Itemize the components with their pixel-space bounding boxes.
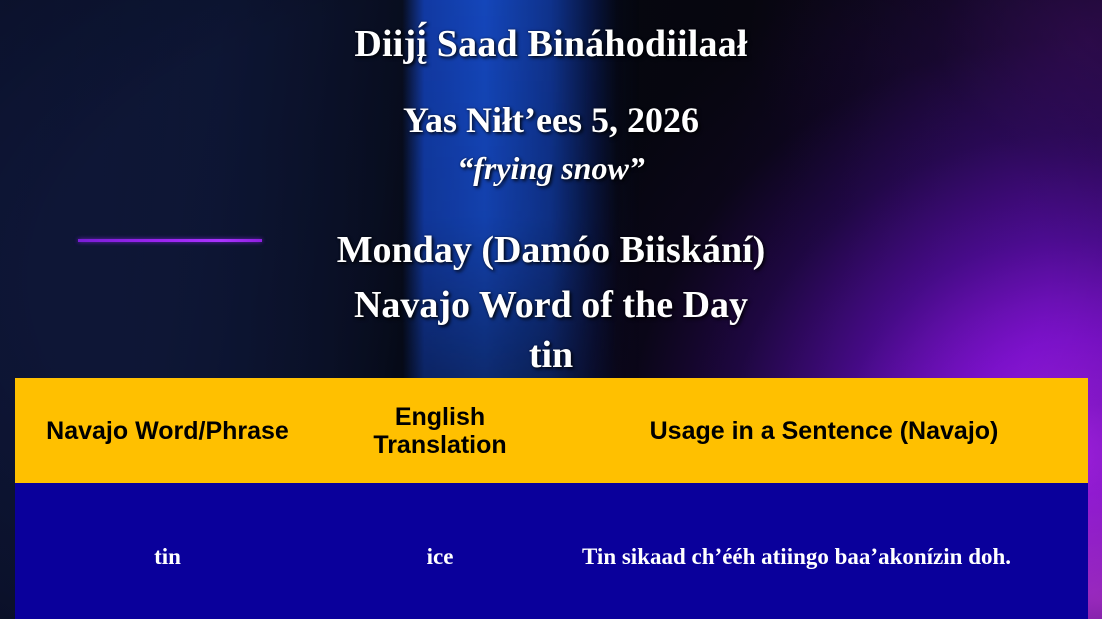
cell-english-translation: ice	[320, 483, 560, 619]
table-row: tin ice Tin sikaad ch’ééh atiingo baa’ak…	[15, 483, 1088, 619]
weekday-line: Monday (Damóo Biiskání)	[0, 228, 1102, 272]
table-header-row: Navajo Word/Phrase English Translation U…	[15, 378, 1088, 483]
navajo-word-of-the-day-slide: Diijį́ Saad Bináhodiilaał Yas Niłt’ees 5…	[0, 0, 1102, 619]
slide-title: Diijį́ Saad Bináhodiilaał	[0, 22, 1102, 66]
column-header-english-translation: English Translation	[320, 378, 560, 483]
word-of-the-day-label: Navajo Word of the Day	[0, 283, 1102, 327]
navajo-date-gloss: “frying snow”	[0, 150, 1102, 187]
accent-rule-divider	[78, 239, 262, 242]
cell-navajo-word: tin	[15, 483, 320, 619]
column-header-usage-sentence: Usage in a Sentence (Navajo)	[560, 378, 1088, 483]
navajo-date: Yas Niłt’ees 5, 2026	[0, 99, 1102, 141]
column-header-navajo-word: Navajo Word/Phrase	[15, 378, 320, 483]
cell-usage-sentence: Tin sikaad ch’ééh atiingo baa’akonízin d…	[560, 483, 1088, 619]
word-of-the-day-value: tin	[0, 333, 1102, 377]
vocabulary-table: Navajo Word/Phrase English Translation U…	[15, 378, 1088, 619]
